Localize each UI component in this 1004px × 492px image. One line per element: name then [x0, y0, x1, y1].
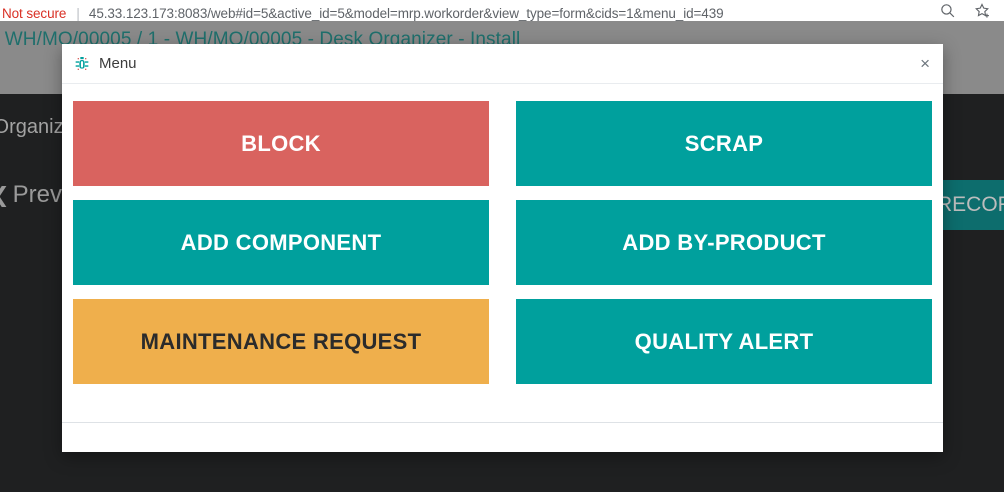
dialog-footer [62, 422, 943, 452]
address-bar[interactable]: Not secure | 45.33.123.173:8083/web#id=5… [0, 0, 934, 22]
maintenance-request-button[interactable]: MAINTENANCE REQUEST [73, 299, 489, 384]
omnibox-separator: | [76, 5, 80, 21]
dialog-body: BLOCK SCRAP ADD COMPONENT ADD BY-PRODUCT… [62, 84, 943, 422]
dialog-header: Menu × [62, 44, 943, 84]
security-status-label: Not secure [2, 6, 66, 21]
add-component-button[interactable]: ADD COMPONENT [73, 200, 489, 285]
dialog-title: Menu [99, 55, 137, 72]
menu-button-grid: BLOCK SCRAP ADD COMPONENT ADD BY-PRODUCT… [73, 101, 932, 384]
scrap-button[interactable]: SCRAP [516, 101, 932, 186]
quality-alert-button[interactable]: QUALITY ALERT [516, 299, 932, 384]
add-by-product-button[interactable]: ADD BY-PRODUCT [516, 200, 932, 285]
browser-toolbar-icons [930, 0, 1000, 21]
bug-icon [74, 56, 90, 72]
search-icon[interactable] [939, 2, 956, 19]
chevron-left-icon: ❮ [0, 184, 10, 207]
block-button[interactable]: BLOCK [73, 101, 489, 186]
browser-toolbar: Not secure | 45.33.123.173:8083/web#id=5… [0, 0, 1004, 21]
menu-dialog: Menu × BLOCK SCRAP ADD COMPONENT ADD BY-… [62, 44, 943, 452]
url-text: 45.33.123.173:8083/web#id=5&active_id=5&… [89, 6, 724, 21]
close-icon[interactable]: × [920, 55, 930, 72]
bookmark-add-icon[interactable] [973, 2, 991, 19]
